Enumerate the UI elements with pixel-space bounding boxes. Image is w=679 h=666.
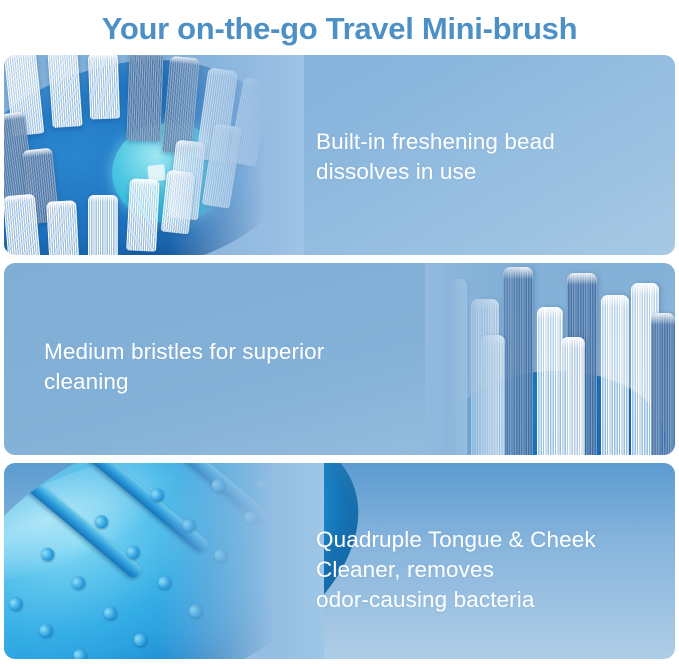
feature-panel-medium-bristles: Medium bristles for superior cleaning [4,263,675,455]
cleaner-nub [210,477,227,494]
bristle-tuft [537,307,563,455]
bristle-tuft [4,194,41,255]
bristle-tuft-blue [4,111,36,201]
cleaner-ridge [122,463,272,526]
bristle-tuft [202,123,242,208]
bristle-tuft [631,283,659,455]
cleaner-nub [149,486,166,503]
cleaner-nub [187,603,204,620]
feature-panel-tongue-cheek-cleaner: Quadruple Tongue & Cheek Cleaner, remove… [4,463,675,659]
medium-bristles-closeup-photo [425,263,675,455]
bristle-tuft-blue [22,148,60,225]
cleaner-nub [39,546,56,563]
gloss-highlight [4,463,201,603]
cleaner-nub [7,595,24,612]
cleaner-ridge [67,463,211,554]
bristle-tuft [168,140,206,221]
bristle-tuft-blue [126,55,163,142]
cleaner-nub [255,476,272,493]
bristle-tuft [561,337,585,455]
feature-panel-list: Built-in freshening bead dissolves in us… [0,55,679,659]
bristle-tuft [196,67,239,162]
freshening-bead-dome [112,123,228,223]
bristle-tuft [88,195,118,255]
tongue-and-cheek-cleaner-photo [4,463,324,659]
bristle-tuft [47,55,82,128]
brush-head-shape [4,55,307,255]
feature-caption-medium-bristles: Medium bristles for superior cleaning [44,337,324,397]
bristle-tuft [601,295,629,455]
bristle-tuft-blue [567,273,597,455]
cleaner-ridge [180,463,321,505]
cleaner-nub [156,574,173,591]
cleaner-nub [102,605,119,622]
feature-panel-freshening-bead: Built-in freshening bead dissolves in us… [4,55,675,255]
cleaner-nub [93,513,110,530]
bristle-tuft [471,299,499,455]
cleaner-nub [212,547,229,564]
feature-caption-freshening-bead: Built-in freshening bead dissolves in us… [316,127,555,187]
image-fade-overlay [158,463,324,659]
page-title-bar: Your on-the-go Travel Mini-brush [0,0,679,55]
image-fade-overlay [425,263,525,455]
cleaner-nub [38,622,55,639]
image-fade-overlay [166,55,304,255]
brush-head-base-shape [430,361,670,455]
cleaner-nub [125,544,142,561]
bristle-tuft [228,77,272,167]
toothbrush-head-with-freshening-bead-photo [4,55,304,255]
cleaner-nub [181,517,198,534]
feature-caption-tongue-cheek-cleaner: Quadruple Tongue & Cheek Cleaner, remove… [316,525,596,615]
bristle-tuft [4,55,44,136]
bristle-tuft-blue [651,313,675,455]
cleaner-nub [132,631,149,648]
bristle-tuft [88,55,120,120]
cleaner-ridge [12,466,144,580]
page-title: Your on-the-go Travel Mini-brush [102,11,578,47]
bristle-tuft [46,200,80,255]
bristle-tuft [437,279,467,455]
bristle-tuft-blue [503,267,533,455]
cleaner-nub [70,574,87,591]
bristle-tuft-blue [162,56,200,154]
cleaner-nub [242,509,259,526]
bristle-tuft [161,170,195,235]
bristle-tuft [481,335,505,455]
cleaner-nub [71,647,88,659]
bristle-tuft [126,178,160,251]
